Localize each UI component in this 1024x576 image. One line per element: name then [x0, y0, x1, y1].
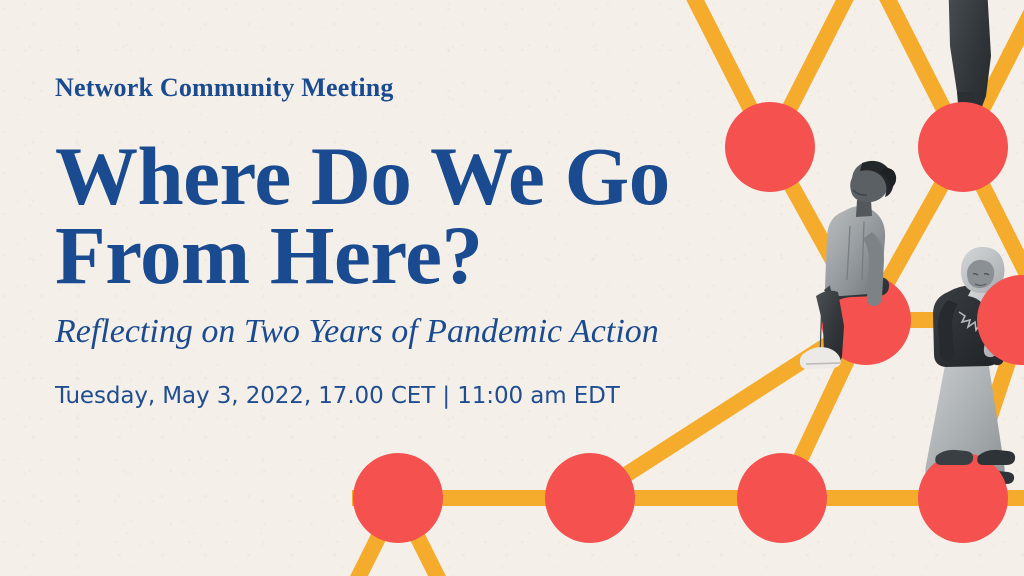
slide-canvas: Network Community Meeting Where Do We Go…	[0, 0, 1024, 576]
page-title: Where Do We Go From Here?	[55, 137, 745, 296]
headline-line-1: Where Do We Go	[55, 130, 670, 222]
event-datetime: Tuesday, May 3, 2022, 17.00 CET | 11:00 …	[55, 383, 755, 409]
node-bottom-1	[353, 453, 443, 543]
node-top-right	[918, 102, 1008, 192]
text-block: Network Community Meeting Where Do We Go…	[55, 74, 755, 409]
headline-line-2: From Here?	[55, 209, 483, 301]
eyebrow-label: Network Community Meeting	[55, 74, 755, 103]
subtitle: Reflecting on Two Years of Pandemic Acti…	[55, 312, 755, 351]
node-bottom-2	[545, 453, 635, 543]
node-bottom-3	[737, 453, 827, 543]
node-bottom-4	[918, 453, 1008, 543]
